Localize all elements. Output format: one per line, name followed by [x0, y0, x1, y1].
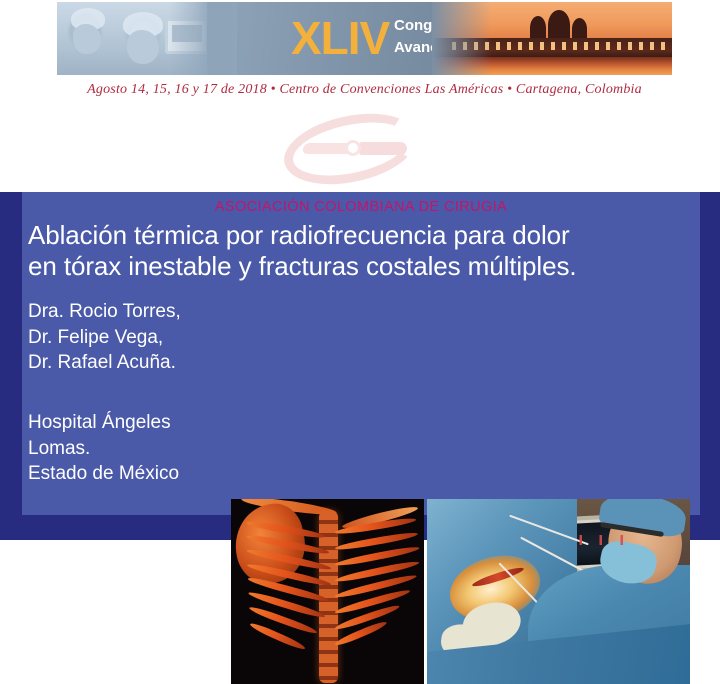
header-area: XLIV Congreso Nacional Avances en Cirugí…: [0, 0, 720, 192]
title-line-1: Ablación térmica por radiofrecuencia par…: [28, 220, 694, 251]
affiliation-line-1: Hospital Ángeles: [28, 410, 243, 436]
cathedral-dome-icon: [548, 10, 570, 40]
ct-ribcage-3d-reconstruction: [231, 499, 424, 684]
monitor-waveform: [573, 535, 639, 545]
banner-roman-numeral: XLIV: [291, 6, 389, 70]
title-line-2: en tórax inestable y fracturas costales …: [28, 251, 694, 282]
scalpel-oval-logo-icon: [283, 116, 418, 182]
congress-banner: XLIV Congreso Nacional Avances en Cirugí…: [57, 2, 672, 75]
cathedral-dome-icon: [572, 18, 587, 40]
slide-content-panel: ASOCIACIÓN COLOMBIANA DE CIRUGIA Ablació…: [22, 192, 700, 515]
authors-list: Dra. Rocio Torres, Dr. Felipe Vega, Dr. …: [28, 299, 238, 376]
event-date-location: Agosto 14, 15, 16 y 17 de 2018 • Centro …: [57, 82, 672, 98]
logo-pivot: [345, 140, 361, 156]
photo-fade-overlay: [432, 2, 492, 75]
affiliation-line-2: Lomas.: [28, 436, 243, 462]
slide-body: ASOCIACIÓN COLOMBIANA DE CIRUGIA Ablació…: [0, 192, 720, 540]
list-item: Dr. Rafael Acuña.: [28, 350, 238, 376]
list-item: Dr. Felipe Vega,: [28, 325, 238, 351]
surgeons-monitor-photo: [57, 2, 217, 75]
logo-handle: [359, 142, 407, 155]
cathedral-dome-icon: [530, 16, 546, 40]
affiliation-line-3: Estado de México: [28, 461, 243, 487]
list-item: Dra. Rocio Torres,: [28, 299, 238, 325]
surgeon-face-right: [127, 30, 159, 64]
cartagena-sunset-photo: [432, 2, 672, 75]
surgeon-face-left: [73, 24, 101, 54]
page-title: Ablación térmica por radiofrecuencia par…: [28, 220, 694, 282]
association-name: ASOCIACIÓN COLOMBIANA DE CIRUGIA: [22, 199, 700, 215]
operating-room-radiofrequency-procedure: [427, 499, 690, 684]
affiliation-block: Hospital Ángeles Lomas. Estado de México: [28, 410, 243, 487]
